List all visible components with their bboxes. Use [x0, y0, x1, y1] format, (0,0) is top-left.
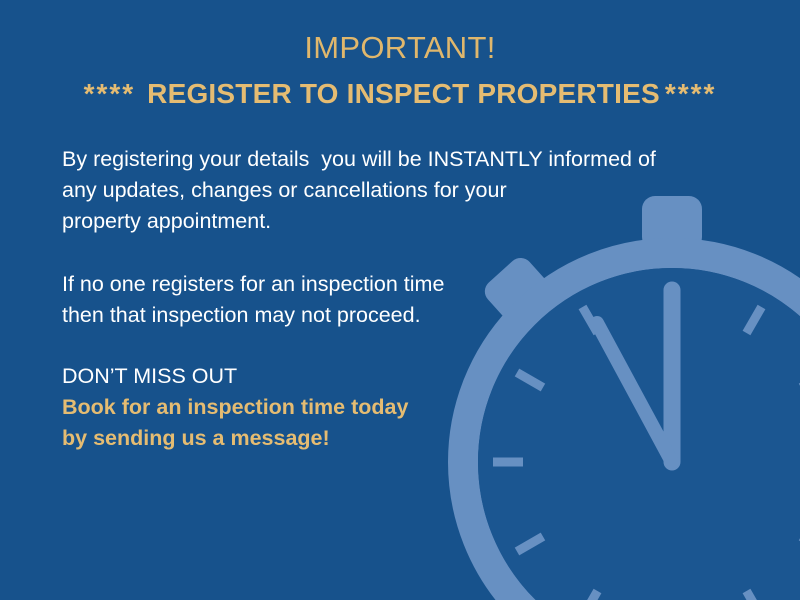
heading-subtitle-text: REGISTER TO INSPECT PROPERTIES [147, 78, 660, 109]
paragraph-registering-details: By registering your details you will be … [62, 144, 722, 237]
paragraph1-line-1: By registering your details you will be … [62, 144, 722, 175]
cta-message: Book for an inspection time today by sen… [62, 392, 722, 454]
paragraph1-line-3: property appointment. [62, 206, 722, 237]
slide-content: IMPORTANT! ****REGISTER TO INSPECT PROPE… [0, 0, 800, 600]
paragraph1-line-2: any updates, changes or cancellations fo… [62, 175, 722, 206]
cta-headline: DON’T MISS OUT [62, 361, 722, 392]
heading-subtitle: ****REGISTER TO INSPECT PROPERTIES**** [0, 74, 800, 114]
cta-line-2: by sending us a message! [62, 423, 722, 454]
paragraph2-line-1: If no one registers for an inspection ti… [62, 269, 722, 300]
spacer-2 [62, 331, 722, 361]
stars-left: **** [84, 78, 136, 109]
spacer-1 [62, 237, 722, 269]
promotional-slide: IMPORTANT! ****REGISTER TO INSPECT PROPE… [0, 0, 800, 600]
stars-right: **** [665, 78, 717, 109]
heading-block: IMPORTANT! ****REGISTER TO INSPECT PROPE… [0, 28, 800, 114]
body-copy: By registering your details you will be … [62, 144, 722, 454]
cta-line-1: Book for an inspection time today [62, 392, 722, 423]
paragraph2-line-2: then that inspection may not proceed. [62, 300, 722, 331]
page-title: IMPORTANT! [0, 28, 800, 68]
paragraph-no-registrations: If no one registers for an inspection ti… [62, 269, 722, 331]
